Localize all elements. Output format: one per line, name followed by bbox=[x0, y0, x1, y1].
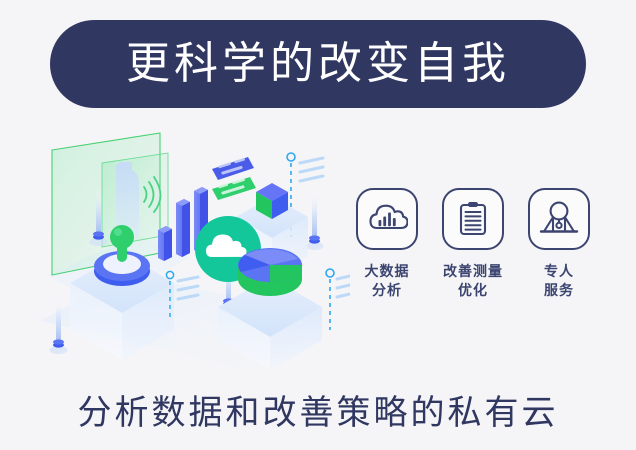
clipboard-checklist-icon bbox=[442, 188, 504, 250]
feature-list: 大数据 分析 改善测量 bbox=[350, 188, 596, 328]
page-title: 更科学的改变自我 bbox=[126, 42, 510, 86]
green-tag-badge bbox=[212, 177, 256, 200]
feature-item-big-data[interactable]: 大数据 分析 bbox=[350, 188, 424, 300]
support-agent-icon bbox=[528, 188, 590, 250]
blue-tag-badge bbox=[212, 157, 254, 180]
tagline: 分析数据和改善策略的私有云 bbox=[0, 385, 636, 434]
feature-item-measure-optimize[interactable]: 改善测量 优化 bbox=[436, 188, 510, 300]
isometric-data-cloud-illustration bbox=[40, 125, 350, 370]
pin-stand-right bbox=[306, 189, 324, 250]
speed-lines-top-right bbox=[300, 158, 323, 181]
feature-label-big-data: 大数据 分析 bbox=[365, 262, 410, 300]
feature-label-measure-optimize: 改善测量 优化 bbox=[443, 262, 503, 300]
speed-lines-bottom-right bbox=[337, 276, 350, 297]
feature-item-dedicated-service[interactable]: 专人 服务 bbox=[522, 188, 596, 300]
poster-canvas: 更科学的改变自我 bbox=[0, 0, 636, 450]
feature-label-dedicated-service: 专人 服务 bbox=[544, 262, 574, 300]
cloud-bar-chart-icon bbox=[356, 188, 418, 250]
pie-chart-3d bbox=[238, 248, 302, 296]
header-banner: 更科学的改变自我 bbox=[50, 20, 586, 108]
